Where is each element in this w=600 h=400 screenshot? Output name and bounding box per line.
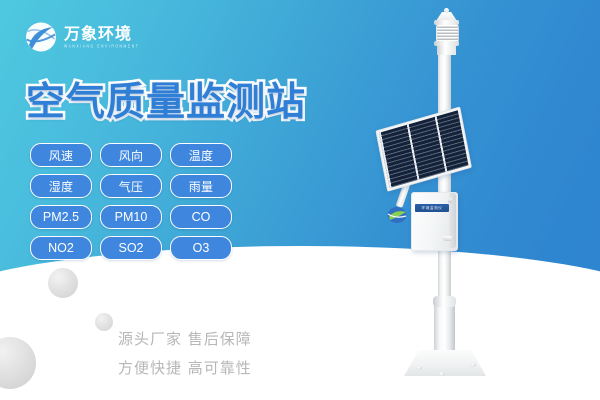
sensor-tag-pm25[interactable]: PM2.5 [30, 205, 92, 229]
sensor-tag-co[interactable]: CO [170, 205, 232, 229]
base-bolt-icon [416, 366, 422, 370]
sensor-tag-no2[interactable]: NO2 [30, 236, 92, 260]
sensor-neck-icon [437, 45, 456, 55]
sensor-tag-so2[interactable]: SO2 [100, 236, 162, 260]
sensor-tag-humidity[interactable]: 湿度 [30, 174, 92, 198]
brand-logo-text: 万象环境 WANXIANG ENVIRONMENT [64, 26, 139, 48]
slogan-block: 源头厂家 售后保障 方便快捷 高可靠性 [118, 325, 252, 383]
base-bolt-icon [470, 363, 476, 367]
decorative-sphere [48, 268, 78, 298]
brand-logo[interactable]: 万象环境 WANXIANG ENVIRONMENT [24, 20, 139, 54]
sensor-tag-rainfall[interactable]: 雨量 [170, 174, 232, 198]
decorative-sphere [95, 313, 113, 331]
brand-name-cn: 万象环境 [64, 26, 139, 42]
sensor-top-knob-icon [444, 8, 449, 13]
slogan-line-1: 源头厂家 售后保障 [118, 325, 252, 354]
page-title: 空气质量监测站 [26, 71, 306, 127]
sensor-tag-wind-dir[interactable]: 风向 [100, 143, 162, 167]
control-enclosure-label: 环境监测仪 [415, 204, 449, 212]
sensor-tag-list: 风速 风向 温度 湿度 气压 雨量 PM2.5 PM10 CO NO2 SO2 … [30, 143, 232, 260]
base-bolt-icon [439, 372, 445, 376]
sensor-tag-wind-speed[interactable]: 风速 [30, 143, 92, 167]
sensor-tag-temperature[interactable]: 温度 [170, 143, 232, 167]
sensor-tag-pressure[interactable]: 气压 [100, 174, 162, 198]
solar-panel [375, 106, 471, 191]
control-enclosure-latch-icon [443, 236, 452, 241]
poster-canvas: 环境监测仪 万象环境 WANXIANG ENVIRONMENT [0, 0, 600, 400]
brand-name-en: WANXIANG ENVIRONMENT [64, 45, 139, 49]
solar-panel-cells [379, 110, 469, 188]
pole-collar [433, 296, 456, 307]
sensor-head-icon [436, 25, 459, 42]
globe-swoosh-icon [24, 20, 58, 54]
control-enclosure-hinge-icon [448, 198, 452, 203]
slogan-line-2: 方便快捷 高可靠性 [118, 354, 252, 383]
bottom-white-band [0, 246, 600, 400]
sensor-tag-pm10[interactable]: PM10 [100, 205, 162, 229]
device-brand-badge-icon [386, 205, 410, 229]
sensor-lower-ring-icon [434, 41, 459, 46]
sensor-tag-o3[interactable]: O3 [170, 236, 232, 260]
pole-lower-section [434, 300, 455, 358]
